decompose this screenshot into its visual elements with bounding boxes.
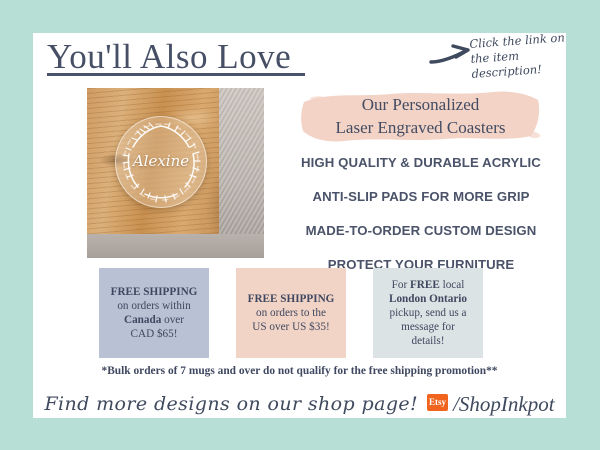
shop-footer: Find more designs on our shop page! Etsy… <box>33 389 566 419</box>
shipping-info-boxes: FREE SHIPPING on orders within Canada ov… <box>66 268 533 358</box>
pickup-line-1-post: local <box>440 279 465 291</box>
pickup-line-1-pre: For <box>392 279 410 291</box>
canada-line-1: FREE SHIPPING <box>111 286 198 298</box>
canada-line-3-rest: over <box>161 314 184 326</box>
etsy-logo-icon[interactable]: Etsy <box>427 394 448 411</box>
canada-line-2: on orders within <box>117 300 190 312</box>
headline-line-1: Our Personalized <box>298 93 543 116</box>
stone-surface-background <box>219 88 264 258</box>
feature-item: MADE-TO-ORDER CUSTOM DESIGN <box>283 223 559 238</box>
shop-handle[interactable]: /ShopInkpot <box>453 392 554 417</box>
feature-item: ANTI-SLIP PADS FOR MORE GRIP <box>283 189 559 204</box>
us-line-3: US over US $35! <box>252 321 329 333</box>
click-link-callout: Click the link on the item description! <box>431 37 581 83</box>
promo-card: You'll Also Love Click the link on the i… <box>33 33 566 418</box>
canada-line-4: CAD $65! <box>131 328 178 340</box>
title-underline <box>47 73 305 76</box>
shipping-box-canada: FREE SHIPPING on orders within Canada ov… <box>99 268 209 358</box>
page-title: You'll Also Love <box>47 37 291 77</box>
cta-text: Click the link on the item description! <box>469 29 590 82</box>
product-photo: Alexine <box>87 88 264 258</box>
pickup-line-1-bold: FREE <box>410 279 440 291</box>
footer-script-text: Find more designs on our shop page! <box>44 393 418 415</box>
us-line-2: on orders to the <box>256 307 326 319</box>
acrylic-coaster: Alexine <box>115 116 207 208</box>
pickup-line-5: details! <box>412 335 445 347</box>
promo-headline: Our Personalized Laser Engraved Coasters <box>298 93 543 139</box>
photo-foreground-strip <box>87 234 264 258</box>
shipping-box-us: FREE SHIPPING on orders to the US over U… <box>236 268 346 358</box>
mint-border-frame: You'll Also Love Click the link on the i… <box>0 0 600 450</box>
pickup-line-2: London Ontario <box>389 293 467 305</box>
local-pickup-box: For FREE local London Ontario pickup, se… <box>373 268 483 358</box>
us-line-1: FREE SHIPPING <box>248 293 335 305</box>
feature-item: HIGH QUALITY & DURABLE ACRYLIC <box>283 155 559 170</box>
bulk-order-disclaimer: *Bulk orders of 7 mugs and over do not q… <box>33 365 566 377</box>
engraved-name: Alexine <box>115 152 207 170</box>
curved-arrow-right-icon <box>429 43 473 74</box>
canada-line-3-bold: Canada <box>124 314 161 326</box>
pickup-line-4: message for <box>401 321 455 333</box>
headline-line-2: Laser Engraved Coasters <box>298 116 543 139</box>
pickup-line-3: pickup, send us a <box>389 307 466 319</box>
